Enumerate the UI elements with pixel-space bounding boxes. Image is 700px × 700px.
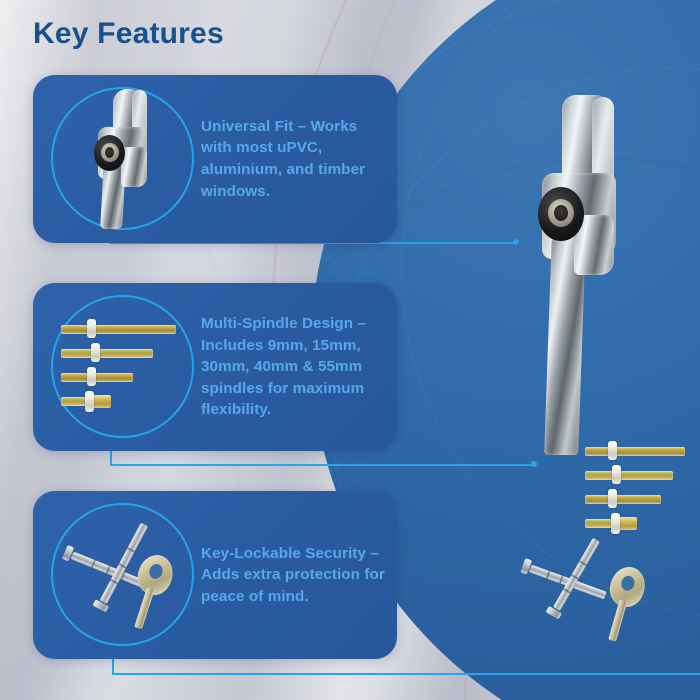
feature-card-multi-spindle[interactable]: Multi-Spindle Design – Includes 9mm, 15m… xyxy=(33,283,397,451)
feature-text-1: Universal Fit – Works with most uPVC, al… xyxy=(201,116,397,202)
spindle-bar xyxy=(61,349,153,358)
spindle-collar xyxy=(87,319,96,338)
feature-media-3 xyxy=(33,491,201,659)
lock-keyway xyxy=(554,205,568,221)
feature-media-1 xyxy=(33,75,201,243)
spindle-collar xyxy=(87,367,96,386)
key-blade xyxy=(134,587,155,629)
spindle-collar xyxy=(608,489,617,508)
spindle-collar xyxy=(611,513,620,534)
lock-keyway xyxy=(105,147,114,158)
spindle-collar xyxy=(608,441,617,460)
spindle-bar xyxy=(585,495,661,504)
product-handle-large xyxy=(520,95,650,455)
spindle-collar xyxy=(612,465,621,484)
product-spindles-large xyxy=(585,443,700,553)
key xyxy=(591,562,659,657)
feature-text-2: Multi-Spindle Design – Includes 9mm, 15m… xyxy=(201,313,397,421)
spindle-bar xyxy=(61,373,133,382)
feature-text-3: Key-Lockable Security – Adds extra prote… xyxy=(201,543,397,608)
spindles-icon xyxy=(61,321,191,421)
feature-card-universal-fit[interactable]: Universal Fit – Works with most uPVC, al… xyxy=(33,75,397,243)
spindle-bar xyxy=(61,325,176,334)
fixings-icon xyxy=(59,517,189,635)
key-blade xyxy=(608,599,627,642)
feature-media-2 xyxy=(33,283,201,451)
page-title: Key Features xyxy=(33,17,224,51)
product-fixings-large xyxy=(520,545,670,665)
feature-infographic: Key Features Universal Fit – Works with … xyxy=(0,0,700,700)
spindle-collar xyxy=(91,343,100,362)
handle-icon xyxy=(88,89,166,229)
spindle-bar xyxy=(585,471,673,480)
feature-card-key-lockable[interactable]: Key-Lockable Security – Adds extra prote… xyxy=(33,491,397,659)
spindle-bar xyxy=(585,447,685,456)
spindle-collar xyxy=(85,391,94,412)
